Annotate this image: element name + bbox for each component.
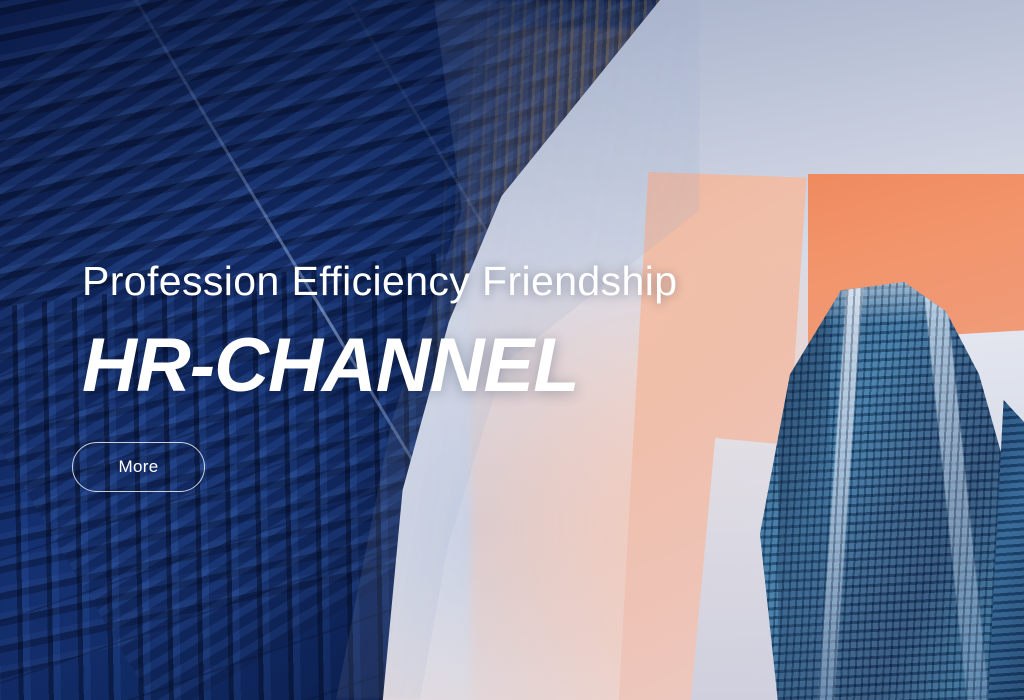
hero-content: Profession Efficiency Friendship HR-CHAN… xyxy=(0,0,1024,700)
hero-banner: Profession Efficiency Friendship HR-CHAN… xyxy=(0,0,1024,700)
hero-tagline: Profession Efficiency Friendship xyxy=(82,258,677,305)
hero-title: HR-CHANNEL xyxy=(82,322,579,409)
more-button[interactable]: More xyxy=(72,442,205,492)
